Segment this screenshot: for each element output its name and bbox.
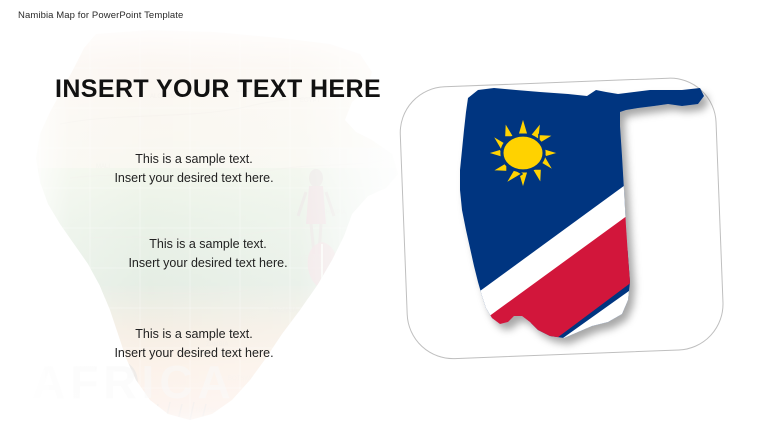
sample-text-line-1: This is a sample text. [96, 150, 292, 169]
sample-text-block-1[interactable]: This is a sample text. Insert your desir… [96, 150, 292, 189]
sample-text-line-2: Insert your desired text here. [110, 254, 306, 273]
slide-canvas: Namibia Map for PowerPoint Template [0, 0, 768, 432]
sample-text-block-3[interactable]: This is a sample text. Insert your desir… [96, 325, 292, 364]
sample-text-line-1: This is a sample text. [110, 235, 306, 254]
sample-text-line-2: Insert your desired text here. [96, 169, 292, 188]
sample-text-block-2[interactable]: This is a sample text. Insert your desir… [110, 235, 306, 274]
sample-text-line-1: This is a sample text. [96, 325, 292, 344]
page-title: Namibia Map for PowerPoint Template [18, 10, 183, 21]
namibia-map-card[interactable] [382, 60, 768, 380]
sample-text-line-2: Insert your desired text here. [96, 344, 292, 363]
slide-headline[interactable]: INSERT YOUR TEXT HERE [55, 75, 381, 104]
text-column: INSERT YOUR TEXT HERE This is a sample t… [0, 0, 400, 432]
